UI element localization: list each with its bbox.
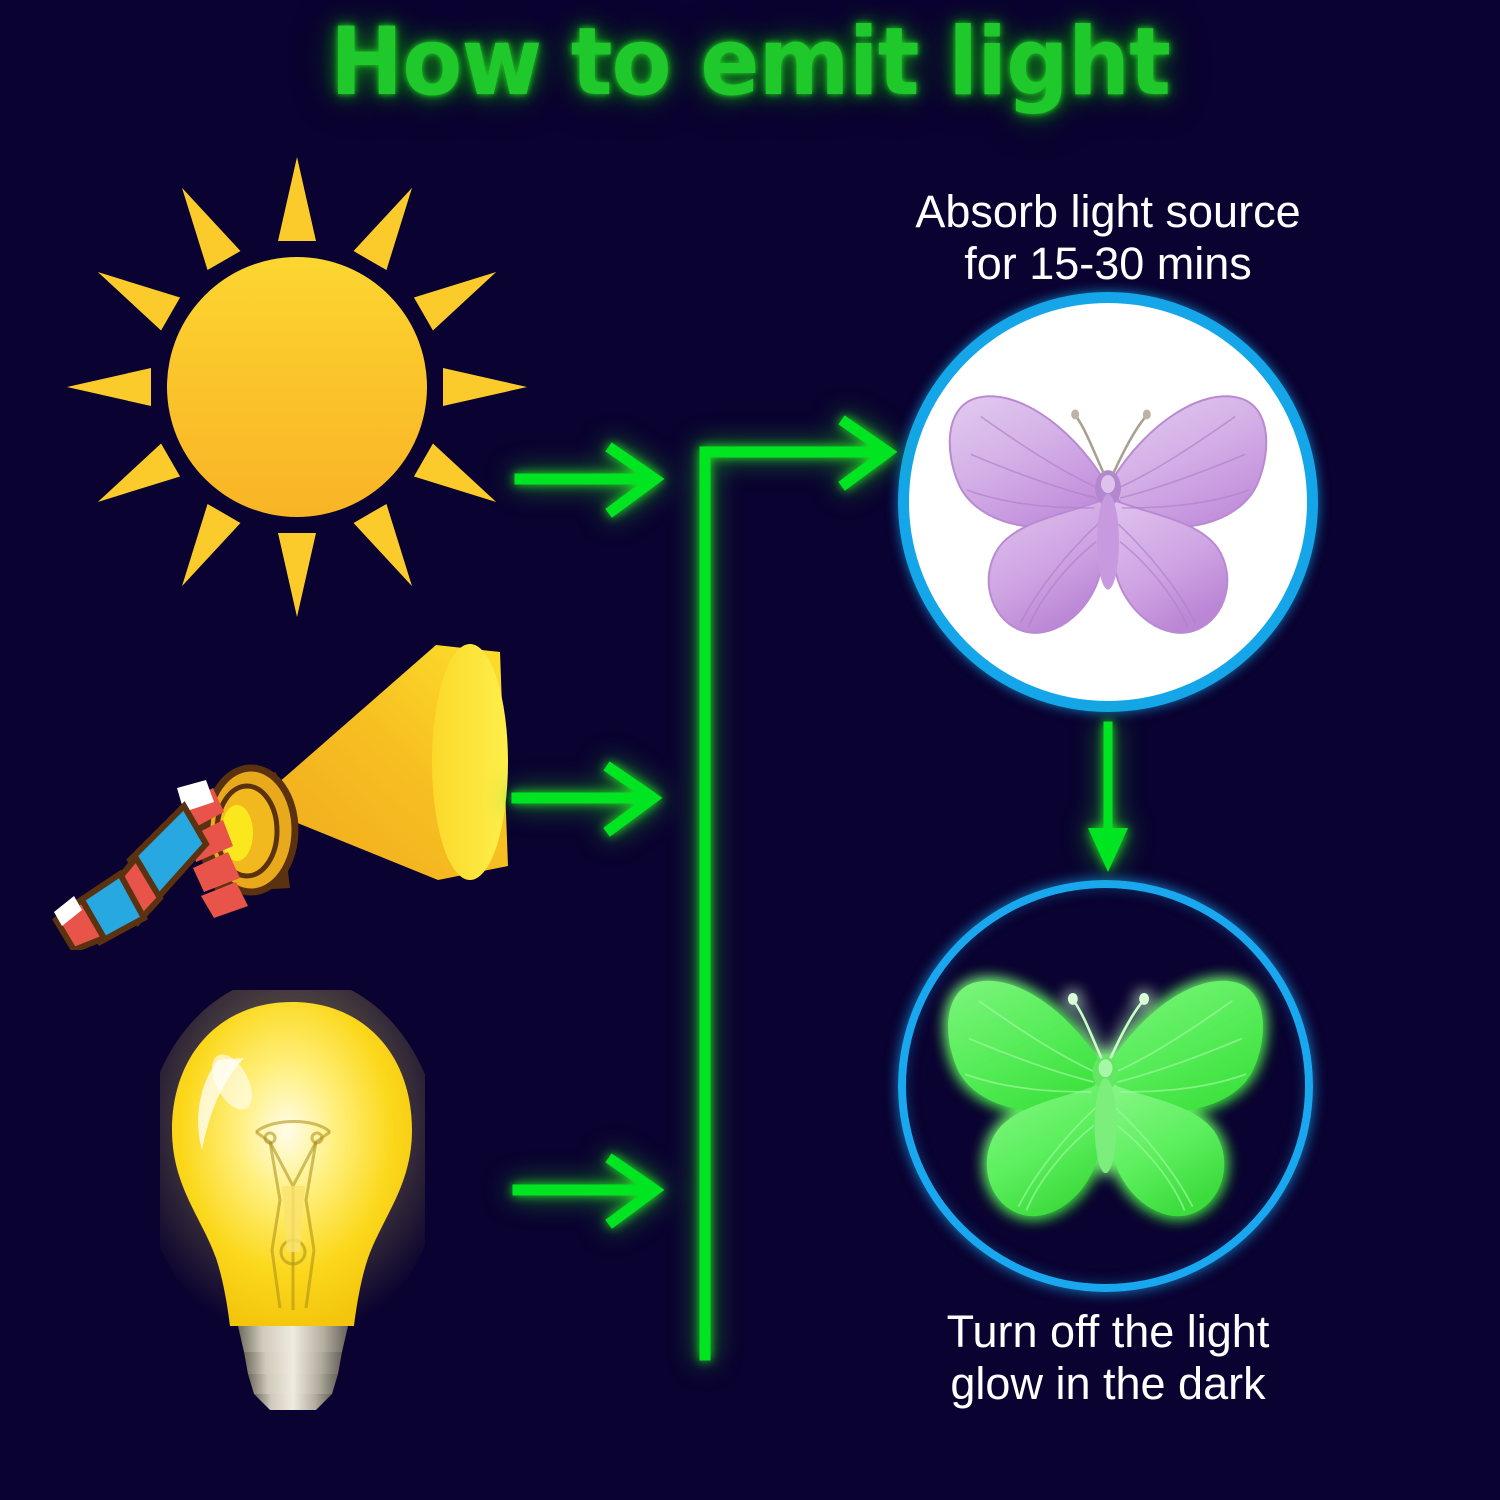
arrow-butterfly-to-glow [1088,726,1128,872]
sun-disc [167,257,427,517]
flashlight-icon [38,630,538,950]
arrow-bulb-to-trunk [518,1161,655,1221]
page-title: How to emit light [53,8,1448,117]
glow-caption: Turn off the light glow in the dark [838,1306,1378,1410]
light-bulb-icon [160,990,425,1410]
infographic-canvas: How to emit light Absorb light source fo… [0,0,1500,1500]
arrow-trunk-to-butterfly [820,423,888,483]
absorb-caption: Absorb light source for 15-30 mins [838,186,1378,290]
butterfly-unlit-circle [898,292,1318,712]
arrow-sun-to-trunk [520,450,655,510]
sun-icon [62,152,532,622]
butterfly-glowing-circle [898,880,1313,1292]
trunk-line [705,452,858,1355]
purple-butterfly-icon [909,303,1307,701]
green-glowing-butterfly-icon [906,888,1305,1284]
